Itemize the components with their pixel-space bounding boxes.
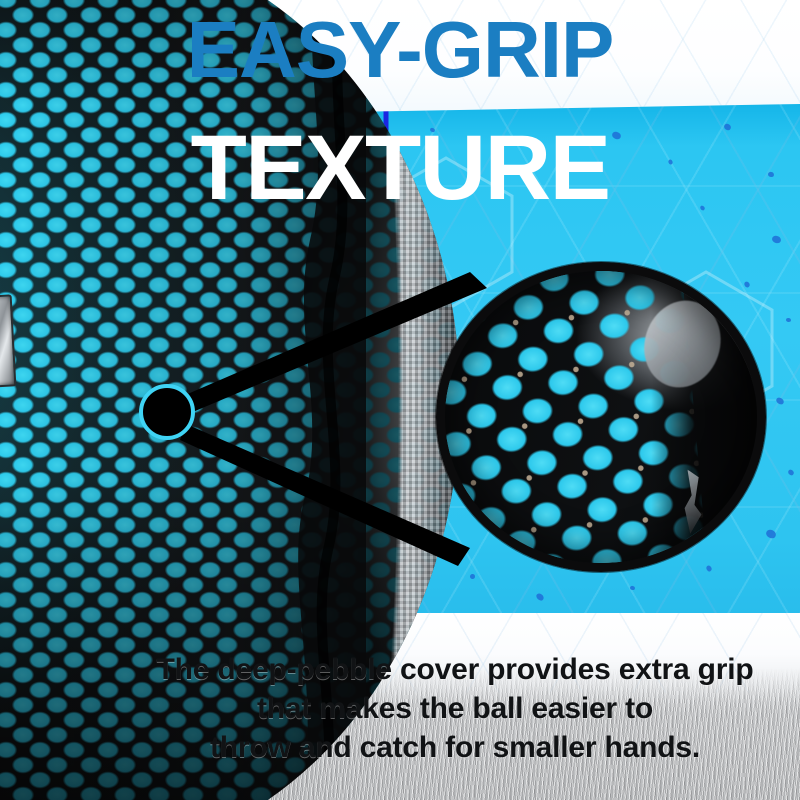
caption-line-1: The deep-pebble cover provides extra gri… — [110, 650, 800, 689]
speckle — [535, 592, 545, 602]
speckle — [771, 235, 782, 245]
speckle — [705, 565, 712, 573]
caption-line-2: that makes the ball easier to — [110, 689, 800, 728]
speckle — [787, 469, 795, 477]
callout-source-dot — [139, 384, 195, 440]
caption-line-3: throw and catch for smaller hands. — [110, 728, 800, 767]
magnified-texture-circle — [436, 262, 766, 572]
speckle — [786, 318, 792, 323]
headline-line-1: EASY-GRIP — [0, 10, 800, 90]
speckle — [775, 396, 785, 405]
speckle — [765, 528, 777, 540]
product-feature-graphic: EASY-GRIP TEXTURE The deep-pebble cover … — [0, 0, 800, 800]
speckle — [630, 585, 636, 590]
magnifier-inner-shadow — [445, 271, 757, 563]
headline-line-2: TEXTURE — [0, 122, 800, 214]
speckle — [470, 574, 476, 580]
caption-block: The deep-pebble cover provides extra gri… — [110, 650, 800, 767]
